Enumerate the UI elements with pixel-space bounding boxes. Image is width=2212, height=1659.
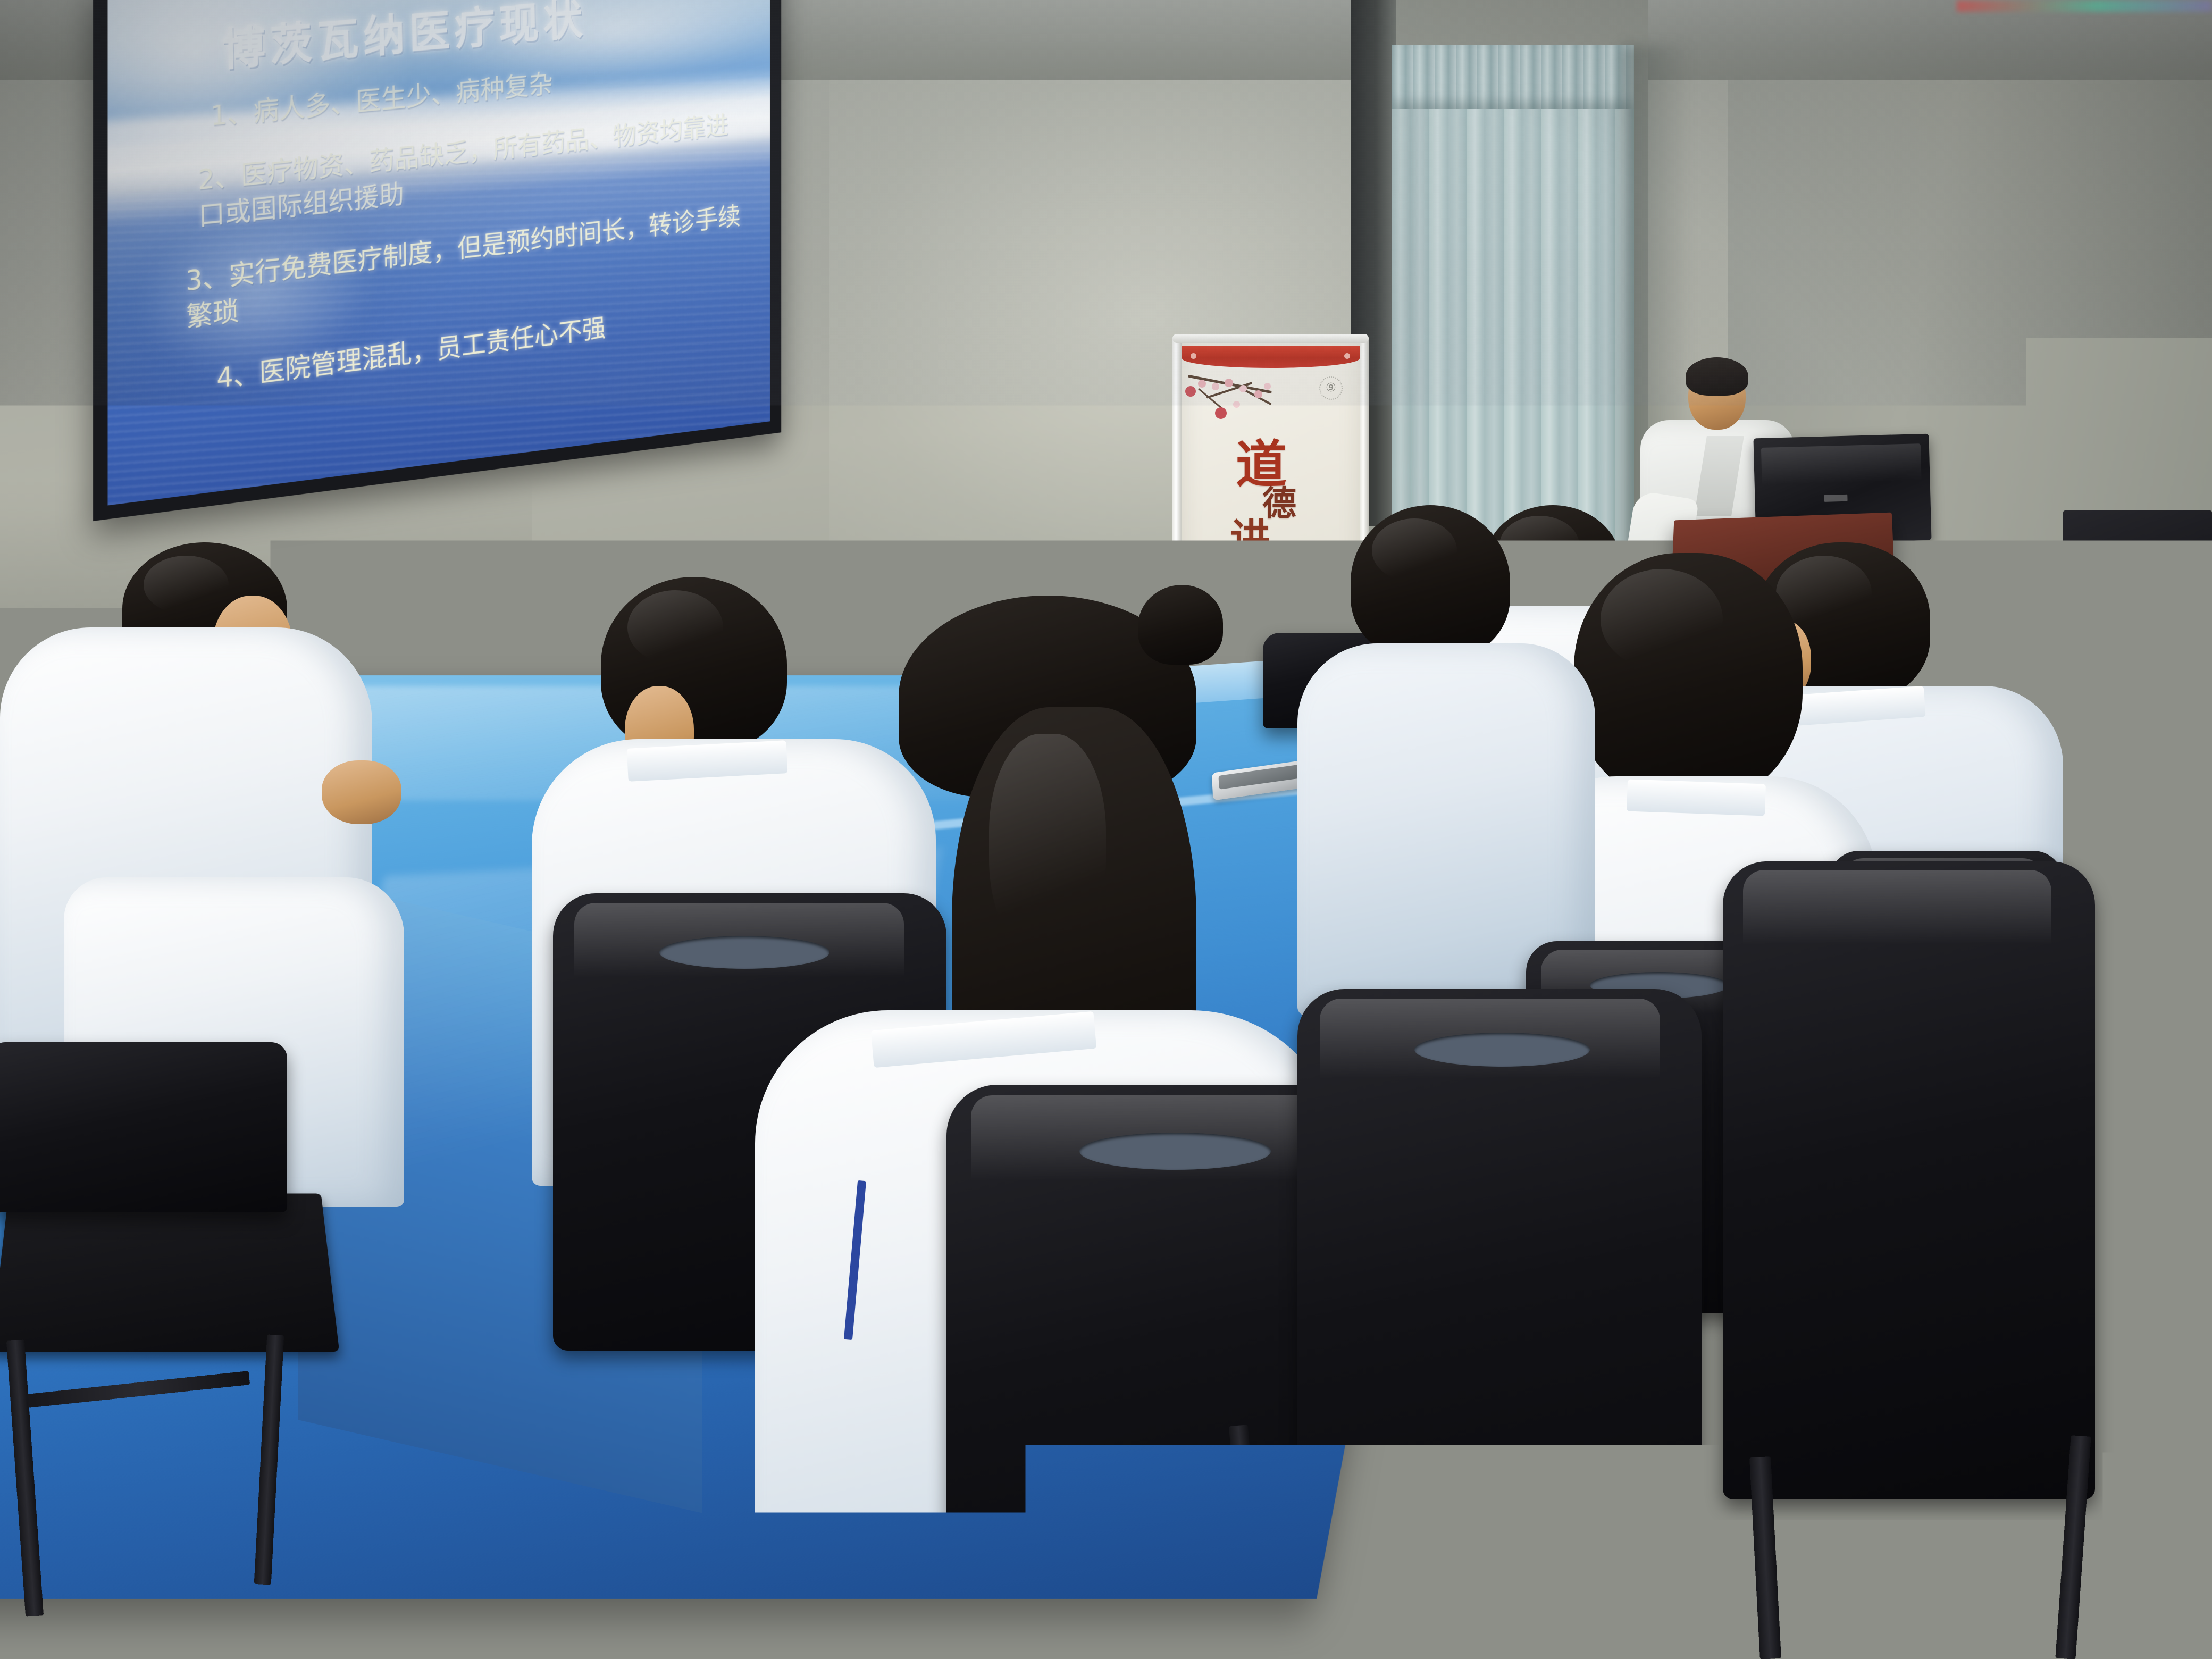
chair-handle-slot (1414, 1033, 1590, 1067)
banner-text: 道 德 讲 堂 (1233, 439, 1339, 594)
attendee-shoe (1308, 1542, 1430, 1611)
lecture-room-photo: 博茨瓦纳医疗现状 1、病人多、医生少、病种复杂 2、医疗物资、药品缺乏，所有药品… (0, 0, 2212, 1659)
chair-back-right-row[interactable] (1723, 861, 2095, 1499)
curtain-pleat-header (1392, 45, 1634, 109)
chair-handle-slot (659, 936, 829, 969)
projected-slide: 博茨瓦纳医疗现状 1、病人多、医生少、病种复杂 2、医疗物资、药品缺乏，所有药品… (107, 0, 770, 506)
presenter-hair (1686, 357, 1748, 396)
banner-seal-icon: ⑨ (1319, 376, 1343, 400)
projection-screen: 博茨瓦纳医疗现状 1、病人多、医生少、病种复杂 2、医疗物资、药品缺乏，所有药品… (93, 0, 781, 521)
banner-char-4: 堂 (1258, 555, 1339, 594)
plum-blossom-icon (1184, 367, 1291, 425)
banner-char-1: 道 (1236, 439, 1339, 490)
attendee-right-edge-torso (2074, 883, 2212, 1180)
banner-red-band (1182, 346, 1360, 368)
banner-char-2: 德 (1262, 487, 1339, 521)
chair-handle-slot (1079, 1133, 1271, 1170)
side-desk-monitor (2063, 510, 2212, 627)
empty-chair-seat[interactable] (0, 1194, 339, 1352)
banner-frame-top (1172, 334, 1369, 343)
empty-chair-backrest[interactable] (0, 1042, 287, 1212)
